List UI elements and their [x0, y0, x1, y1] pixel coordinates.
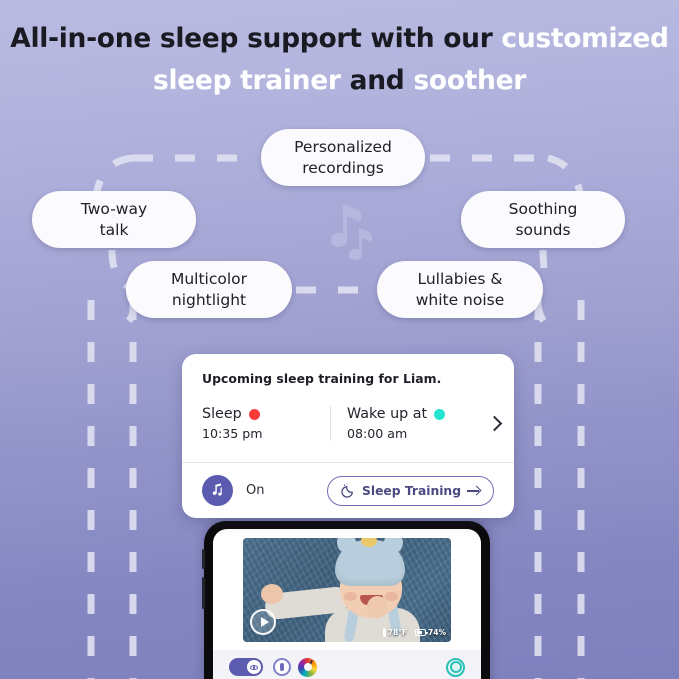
play-triangle [261, 617, 269, 627]
feature-pill-soothing-sounds[interactable]: Soothing sounds [461, 191, 625, 248]
wake-status-dot [434, 409, 445, 420]
pill-line-2: nightlight [171, 290, 247, 311]
wake-label-row: Wake up at [347, 406, 470, 422]
headline-line-1: All-in-one sleep support with our custom… [0, 18, 679, 60]
feature-pill-multicolor-nightlight[interactable]: Multicolor nightlight [126, 261, 292, 318]
pill-line-1: Lullabies & [416, 269, 505, 290]
temperature-value: 78°F [388, 628, 407, 637]
card-times-row: Sleep 10:35 pm Wake up at 08:00 am [202, 406, 494, 441]
arrow-right-icon [467, 486, 480, 496]
pill-line-1: Two-way [81, 199, 147, 220]
wake-time-value: 08:00 am [347, 426, 470, 441]
headline-white-1: customized [501, 23, 668, 54]
sleep-training-button-label: Sleep Training [362, 484, 461, 498]
eye-icon [250, 665, 258, 670]
card-bottom-section: On Sleep Training [182, 463, 514, 518]
sound-status-label: On [246, 483, 264, 498]
pill-line-2: recordings [294, 158, 392, 179]
wake-time-column: Wake up at 08:00 am [330, 406, 470, 441]
pill-line-2: sounds [509, 220, 578, 241]
crescent-moon-icon [341, 483, 356, 498]
music-notes-icon[interactable] [202, 475, 233, 506]
baby-cheek-right [385, 592, 398, 601]
phone-screen: 78°F 74% [213, 529, 481, 679]
play-icon[interactable] [250, 609, 276, 635]
sleep-training-button[interactable]: Sleep Training [327, 476, 494, 506]
phone-power-button [202, 577, 205, 609]
sleep-label-row: Sleep [202, 406, 330, 422]
baby-video-feed[interactable]: 78°F 74% [243, 538, 451, 642]
headline-dark-1: All-in-one sleep support with our [10, 23, 501, 54]
headline-dark-2: and [341, 65, 414, 96]
toggle-knob [247, 660, 261, 674]
music-notes-glyph [209, 482, 226, 499]
headline-line-2: sleep trainer and soother [0, 60, 679, 102]
thermometer-icon [383, 628, 386, 637]
pill-line-1: Personalized [294, 137, 392, 158]
color-wheel-needle [307, 660, 313, 669]
eye-toggle-icon[interactable] [229, 658, 263, 676]
pill-line-2: white noise [416, 290, 505, 311]
pill-line-1: Soothing [509, 199, 578, 220]
card-top-section: Upcoming sleep training for Liam. Sleep … [182, 354, 514, 441]
pill-line-1: Multicolor [171, 269, 247, 290]
battery-value: 74% [428, 628, 446, 637]
music-note-decoration-icon [313, 200, 375, 266]
feature-pill-personalized-recordings[interactable]: Personalized recordings [261, 129, 425, 186]
battery-stat: 74% [415, 628, 446, 637]
feature-pill-lullabies-white-noise[interactable]: Lullabies & white noise [377, 261, 543, 318]
sleep-time-column: Sleep 10:35 pm [202, 406, 330, 441]
record-target-icon[interactable] [446, 658, 465, 677]
phone-mockup: 78°F 74% [204, 521, 490, 679]
sleep-status-dot [249, 409, 260, 420]
color-wheel-icon[interactable] [298, 658, 317, 677]
battery-icon [415, 629, 426, 636]
baby-hand-right [367, 596, 388, 618]
baby-cheek-left [344, 592, 357, 601]
card-title: Upcoming sleep training for Liam. [202, 371, 494, 386]
headline-white-2: sleep trainer [153, 65, 341, 96]
pill-line-2: talk [81, 220, 147, 241]
sleep-label: Sleep [202, 406, 242, 422]
promo-graphic: All-in-one sleep support with our custom… [0, 0, 679, 679]
feature-pill-two-way-talk[interactable]: Two-way talk [32, 191, 196, 248]
video-status-overlay: 78°F 74% [383, 628, 446, 637]
microphone-icon[interactable] [273, 658, 291, 676]
headline-white-3: soother [413, 65, 526, 96]
sleep-training-card[interactable]: Upcoming sleep training for Liam. Sleep … [182, 354, 514, 518]
phone-volume-button [202, 549, 205, 569]
phone-control-toolbar [213, 650, 481, 679]
temperature-stat: 78°F [383, 628, 407, 637]
mic-capsule [280, 663, 284, 671]
baby-hand-left [261, 584, 283, 604]
sleep-time-value: 10:35 pm [202, 426, 330, 441]
page-headline: All-in-one sleep support with our custom… [0, 18, 679, 102]
wake-label: Wake up at [347, 406, 427, 422]
